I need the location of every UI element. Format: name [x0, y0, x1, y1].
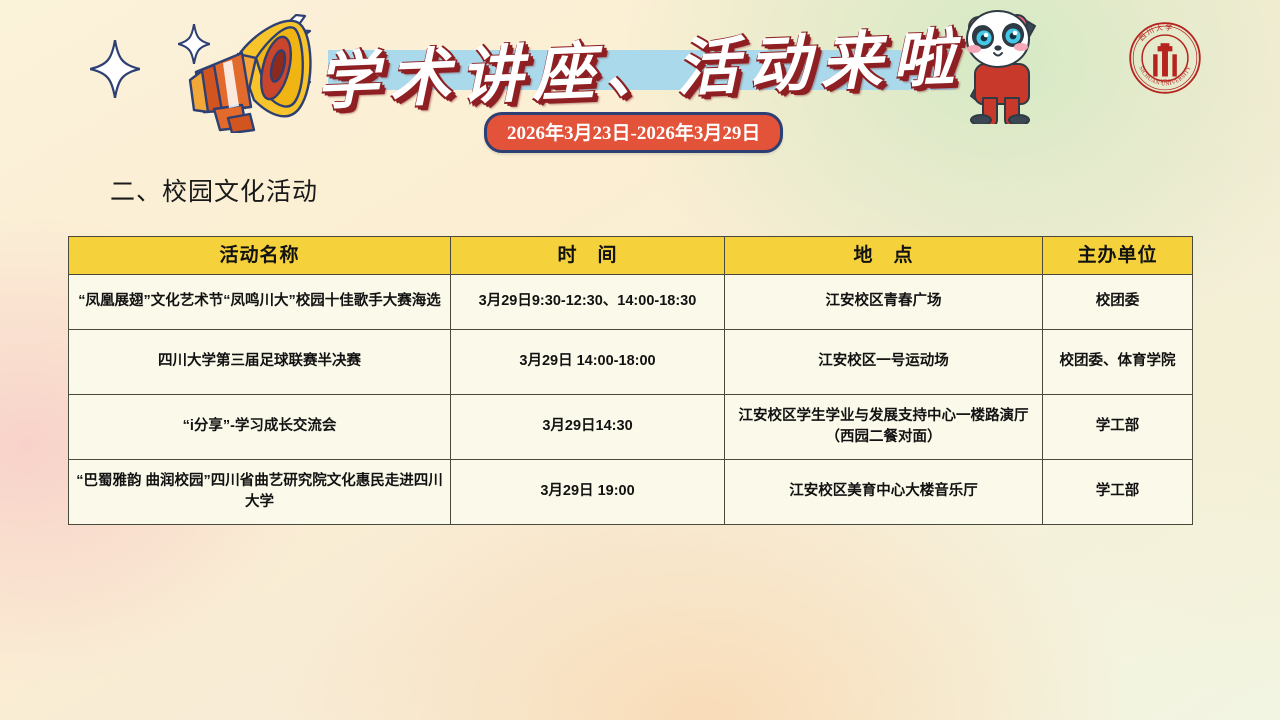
date-range-badge: 2026年3月23日-2026年3月29日 — [484, 112, 783, 153]
table-row: 四川大学第三届足球联赛半决赛 3月29日 14:00-18:00 江安校区一号运… — [69, 330, 1193, 395]
table-row: “巴蜀雅韵 曲润校园”四川省曲艺研究院文化惠民走进四川大学 3月29日 19:0… — [69, 460, 1193, 525]
logo-chinese-text: 四 川 大 学 — [1138, 23, 1173, 43]
campus-culture-activity-table: 活动名称 时 间 地 点 主办单位 “凤凰展翅”文化艺术节“凤鸣川大”校园十佳歌… — [68, 236, 1193, 525]
table-header-row: 活动名称 时 间 地 点 主办单位 — [69, 237, 1193, 275]
cell-time: 3月29日 19:00 — [451, 460, 725, 525]
column-header-place: 地 点 — [725, 237, 1043, 275]
sparkle-icon — [90, 40, 140, 98]
cell-time: 3月29日9:30-12:30、14:00-18:30 — [451, 275, 725, 330]
poster-canvas: 学术讲座、活动来啦 2026年3月23日-2026年3月29日 — [0, 0, 1280, 720]
cell-activity-name: 四川大学第三届足球联赛半决赛 — [69, 330, 451, 395]
column-header-organizer: 主办单位 — [1043, 237, 1193, 275]
section-heading: 二、校园文化活动 — [110, 172, 318, 208]
cell-place: 江安校区美育中心大楼音乐厅 — [725, 460, 1043, 525]
cell-organizer: 学工部 — [1043, 460, 1193, 525]
sichuan-university-logo-icon: 1896 四 川 大 学 SICHUAN UNIVERSITY — [1128, 21, 1202, 95]
cell-organizer: 校团委、体育学院 — [1043, 330, 1193, 395]
cell-activity-name: “巴蜀雅韵 曲润校园”四川省曲艺研究院文化惠民走进四川大学 — [69, 460, 451, 525]
cell-activity-name: “i分享”-学习成长交流会 — [69, 395, 451, 460]
cell-place: 江安校区学生学业与发展支持中心一楼路演厅（西园二餐对面） — [725, 395, 1043, 460]
column-header-time: 时 间 — [451, 237, 725, 275]
cell-place: 江安校区一号运动场 — [725, 330, 1043, 395]
table-row: “i分享”-学习成长交流会 3月29日14:30 江安校区学生学业与发展支持中心… — [69, 395, 1193, 460]
table-row: “凤凰展翅”文化艺术节“凤鸣川大”校园十佳歌手大赛海选 3月29日9:30-12… — [69, 275, 1193, 330]
megaphone-icon — [150, 8, 325, 133]
page-title: 学术讲座、活动来啦 — [328, 2, 951, 126]
cell-place: 江安校区青春广场 — [725, 275, 1043, 330]
panda-mascot-icon — [955, 4, 1045, 124]
column-header-activity-name: 活动名称 — [69, 237, 451, 275]
cell-organizer: 校团委 — [1043, 275, 1193, 330]
cell-organizer: 学工部 — [1043, 395, 1193, 460]
cell-time: 3月29日14:30 — [451, 395, 725, 460]
cell-time: 3月29日 14:00-18:00 — [451, 330, 725, 395]
poster-header: 学术讲座、活动来啦 2026年3月23日-2026年3月29日 — [0, 0, 1280, 160]
cell-activity-name: “凤凰展翅”文化艺术节“凤鸣川大”校园十佳歌手大赛海选 — [69, 275, 451, 330]
